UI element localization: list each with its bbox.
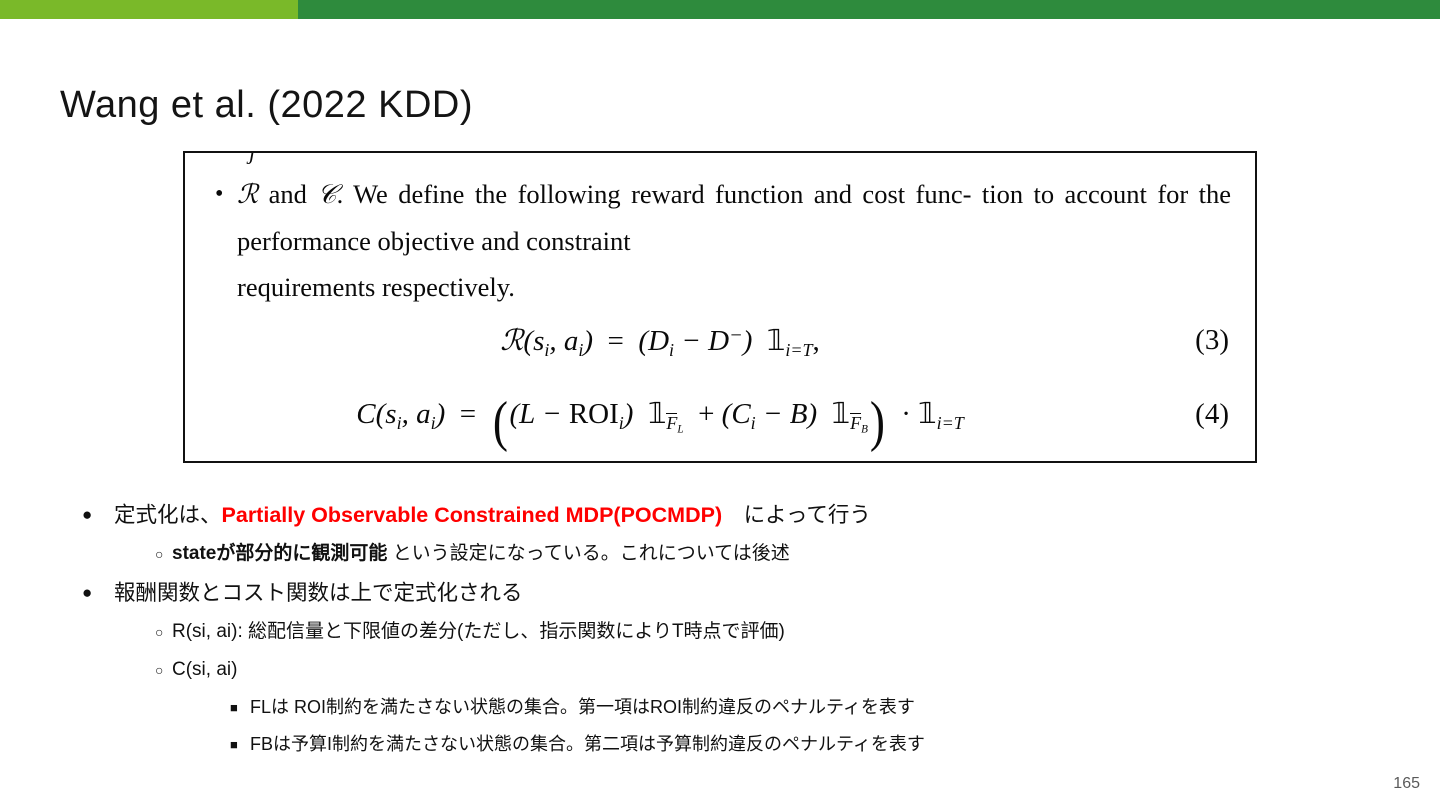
bullet-marker-filled-square-icon: ■ xyxy=(60,729,250,760)
bullet-marker-filled-circle-icon: ● xyxy=(60,576,114,610)
list-item-text: stateが部分的に観測可能 という設定になっている。これについては後述 xyxy=(172,538,1380,570)
list-item: ○ stateが部分的に観測可能 という設定になっている。これについては後述 xyxy=(60,538,1380,570)
list-item-text: FBは予算I制約を満たさない状態の集合。第二項は予算制約違反のペナルティを表す xyxy=(250,729,1380,760)
bullet-marker-filled-circle-icon: ● xyxy=(60,498,114,532)
top-decorative-bar xyxy=(0,0,1440,19)
bullet-segment-highlight: Partially Observable Constrained MDP(POC… xyxy=(222,503,723,527)
equation-4-body: C(si, ai) = ((L − ROIi) 𝟙FL + (Ci − B) 𝟙… xyxy=(185,396,1135,432)
figure-paragraph-text: ℛ and 𝒞. We define the following reward … xyxy=(237,171,1231,310)
equation-3-number: (3) xyxy=(1135,324,1255,357)
bullet-list: ● 定式化は、Partially Observable Constrained … xyxy=(60,498,1380,766)
list-item: ● 定式化は、Partially Observable Constrained … xyxy=(60,498,1380,532)
page-number: 165 xyxy=(1393,775,1420,793)
list-item-text: FLは ROI制約を満たさない状態の集合。第一項はROI制約違反のペナルティを表… xyxy=(250,692,1380,723)
figure-paragraph-line-3: requirements respectively. xyxy=(237,264,1231,310)
bullet-segment-text: 定式化は、 xyxy=(114,503,222,527)
top-bar-dark-green-segment xyxy=(298,0,1440,19)
list-item-text: C(si, ai) xyxy=(172,654,1380,686)
figure-bullet-marker-icon: • xyxy=(211,171,237,310)
equation-4-number: (4) xyxy=(1135,398,1255,431)
list-item: ■ FBは予算I制約を満たさない状態の集合。第二項は予算制約違反のペナルティを表… xyxy=(60,729,1380,760)
list-item-text: 定式化は、Partially Observable Constrained MD… xyxy=(114,498,1380,532)
list-item: ○ C(si, ai) xyxy=(60,654,1380,686)
equation-figure-box: j • ℛ and 𝒞. We define the following rew… xyxy=(183,151,1257,463)
list-item-text: R(si, ai): 総配信量と下限値の差分(ただし、指示関数によりT時点で評価… xyxy=(172,616,1380,648)
list-item: ○ R(si, ai): 総配信量と下限値の差分(ただし、指示関数によりT時点で… xyxy=(60,616,1380,648)
figure-paragraph-line-1: ℛ and 𝒞. We define the following reward … xyxy=(237,179,971,209)
list-item: ■ FLは ROI制約を満たさない状態の集合。第一項はROI制約違反のペナルティ… xyxy=(60,692,1380,723)
bullet-marker-hollow-circle-icon: ○ xyxy=(60,616,172,648)
bullet-marker-filled-square-icon: ■ xyxy=(60,692,250,723)
bullet-marker-hollow-circle-icon: ○ xyxy=(60,538,172,570)
equation-3-body: ℛ(si, ai) = (Di − D−) 𝟙i=T, xyxy=(185,323,1135,358)
bullet-marker-hollow-circle-icon: ○ xyxy=(60,654,172,686)
equation-3-row: ℛ(si, ai) = (Di − D−) 𝟙i=T, (3) xyxy=(185,323,1255,358)
bullet-segment-bold: stateが部分的に観測可能 xyxy=(172,543,387,564)
bullet-segment-text: という設定になっている。これについては後述 xyxy=(387,543,789,564)
figure-bullet-paragraph: • ℛ and 𝒞. We define the following rewar… xyxy=(211,171,1231,310)
top-bar-light-green-segment xyxy=(0,0,298,19)
bullet-segment-text: によって行う xyxy=(722,503,871,527)
list-item-text: 報酬関数とコスト関数は上で定式化される xyxy=(114,576,1380,610)
equation-4-row: C(si, ai) = ((L − ROIi) 𝟙FL + (Ci − B) 𝟙… xyxy=(185,396,1255,432)
list-item: ● 報酬関数とコスト関数は上で定式化される xyxy=(60,576,1380,610)
clipped-text-fragment: j xyxy=(249,151,255,165)
page-title: Wang et al. (2022 KDD) xyxy=(60,84,473,128)
